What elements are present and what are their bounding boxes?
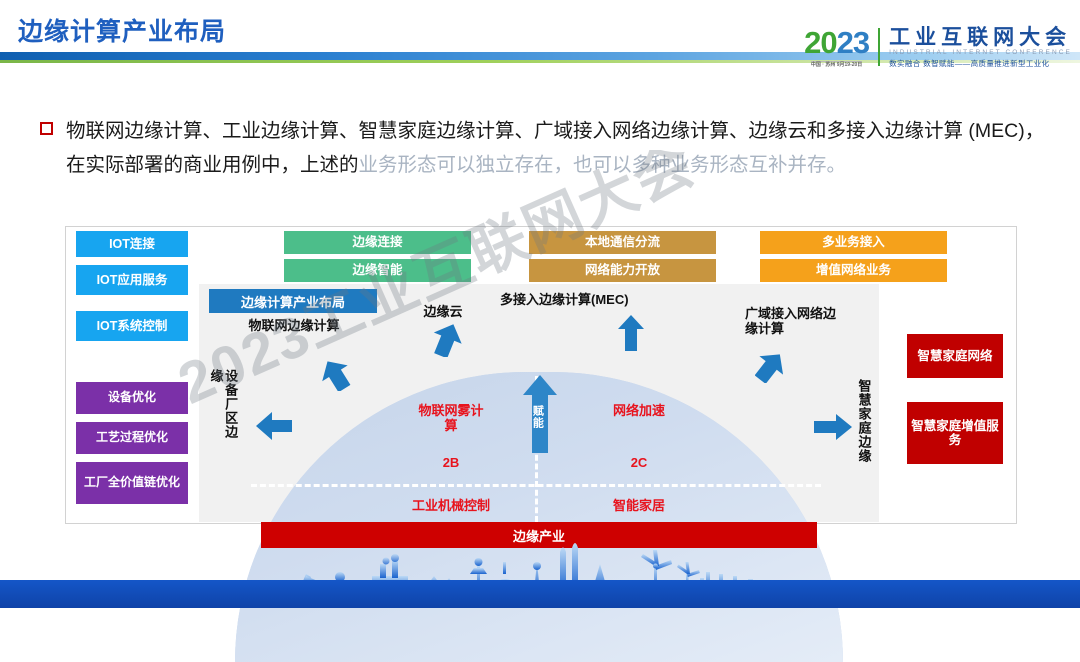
label-smart-home: 智能家居 [587, 499, 691, 514]
chip-multi-service-access[interactable]: 多业务接入 [760, 231, 947, 254]
bullet-marker-icon [40, 122, 53, 135]
chip-network-capability-exposure[interactable]: 网络能力开放 [529, 259, 716, 282]
chip-smart-home-network[interactable]: 智慧家庭网络 [907, 334, 1003, 378]
chip-local-traffic-offload[interactable]: 本地通信分流 [529, 231, 716, 254]
label-iot-fog-computing: 物联网雾计算 [414, 404, 488, 433]
logo-year-text: 2023 [804, 27, 869, 58]
label-mec: 多接入边缘计算(MEC) [500, 293, 629, 308]
chip-value-added-network-service[interactable]: 增值网络业务 [760, 259, 947, 282]
bullet-text-highlight: 业务形态可以独立存在，也可以多种业务形态互补并存。 [359, 154, 847, 176]
label-iot-edge-computing: 物联网边缘计算 [216, 319, 372, 334]
arrow-iot-edge-up [321, 359, 351, 391]
footer-decoration [0, 536, 1080, 608]
logo-english-name: INDUSTRIAL INTERNET CONFERENCE [889, 50, 1072, 57]
diagram-frame: IOT连接 IOT应用服务 IOT系统控制 设备优化 工艺过程优化 工厂全价值链… [65, 226, 1017, 524]
chip-iot-connect[interactable]: IOT连接 [76, 231, 188, 257]
page-title: 边缘计算产业布局 [18, 12, 226, 48]
label-industrial-machine-control: 工业机械控制 [385, 499, 517, 514]
chip-iot-app-service[interactable]: IOT应用服务 [76, 265, 188, 295]
chip-smart-home-value-added-service[interactable]: 智慧家庭增值服务 [907, 402, 1003, 464]
chip-process-optimization[interactable]: 工艺过程优化 [76, 422, 188, 454]
banner-edge-industry-layout: 边缘计算产业布局 [209, 289, 377, 313]
footer-blue-band [0, 580, 1080, 608]
label-edge-cloud: 边缘云 [407, 305, 479, 320]
conference-logo: 2023 中国 · 苏州 9月19-20日 工业互联网大会 INDUSTRIAL… [804, 24, 1072, 70]
logo-divider [878, 28, 880, 66]
arrow-mec-up [618, 315, 644, 351]
chip-factory-value-chain-optimization[interactable]: 工厂全价值链优化 [76, 462, 188, 504]
label-2c: 2C [619, 456, 659, 471]
bullet-paragraph: 物联网边缘计算、工业边缘计算、智慧家庭边缘计算、广域接入网络边缘计算、边缘云和多… [66, 114, 1050, 182]
arrow-wan-edge-up [755, 351, 785, 383]
label-2b: 2B [431, 456, 471, 471]
logo-chinese-name: 工业互联网大会 [889, 27, 1072, 48]
label-network-acceleration: 网络加速 [587, 404, 691, 419]
arrow-home-edge-right [814, 414, 852, 440]
arrow-edge-cloud-up [432, 323, 462, 357]
chip-iot-system-control[interactable]: IOT系统控制 [76, 311, 188, 341]
logo-text-block: 工业互联网大会 INDUSTRIAL INTERNET CONFERENCE 数… [889, 27, 1072, 67]
label-smart-home-edge: 智慧家庭边缘 [856, 379, 871, 487]
arrow-device-edge-left [256, 412, 292, 440]
label-device-factory-edge: 设备厂区边缘 [208, 369, 237, 449]
logo-year-block: 2023 中国 · 苏州 9月19-20日 [804, 27, 869, 68]
bullet-block: 物联网边缘计算、工业边缘计算、智慧家庭边缘计算、广域接入网络边缘计算、边缘云和多… [40, 114, 1050, 182]
label-wan-edge-computing: 广域接入网络边缘计算 [745, 307, 837, 336]
logo-tagline: 数实融合 数智赋能——高质量推进新型工业化 [889, 60, 1072, 68]
label-empower: 赋能 [531, 405, 543, 441]
chip-edge-connection[interactable]: 边缘连接 [284, 231, 471, 254]
chip-edge-intelligence[interactable]: 边缘智能 [284, 259, 471, 282]
chip-device-optimization[interactable]: 设备优化 [76, 382, 188, 414]
logo-year-subtext: 中国 · 苏州 9月19-20日 [811, 61, 862, 68]
